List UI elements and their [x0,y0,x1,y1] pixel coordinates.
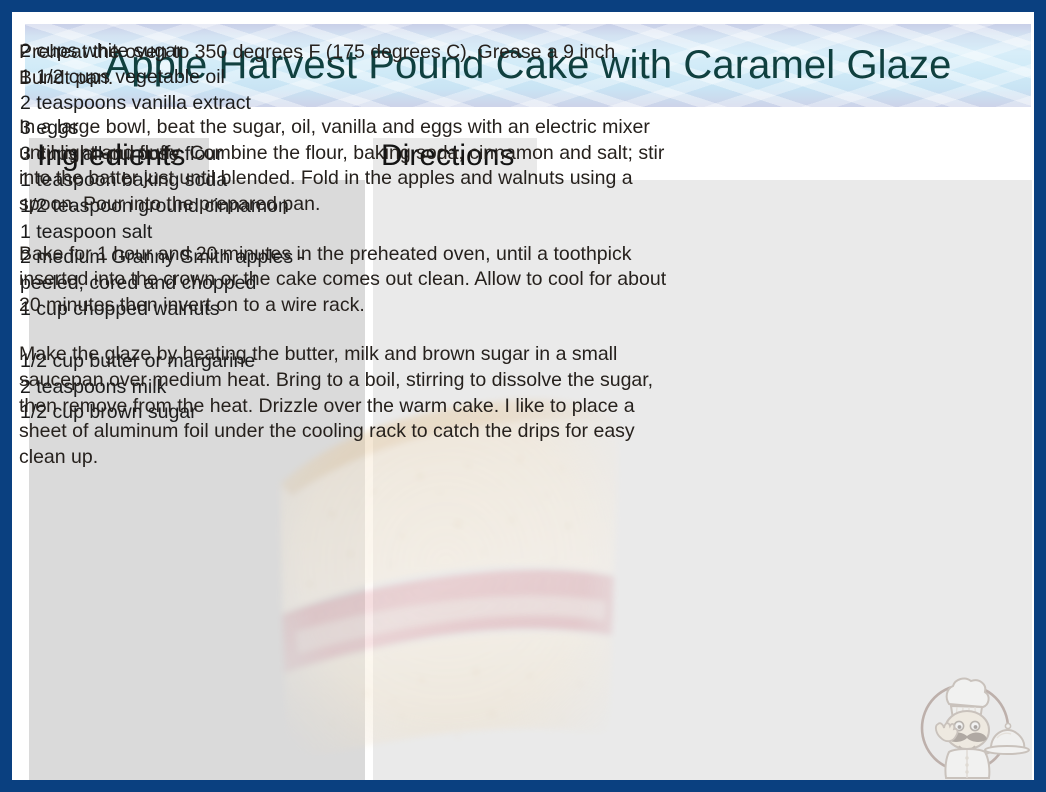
direction-step: Preheat the oven to 350 degrees F (175 d… [19,40,669,91]
direction-step: Make the glaze by heating the butter, mi… [19,342,669,470]
directions-steps: Preheat the oven to 350 degrees F (175 d… [19,40,669,470]
recipe-card: Apple Harvest Pound Cake with Caramel Gl… [0,0,1046,792]
direction-step: In a large bowl, beat the sugar, oil, va… [19,115,669,217]
direction-step: Bake for 1 hour and 20 minutes in the pr… [19,242,669,319]
